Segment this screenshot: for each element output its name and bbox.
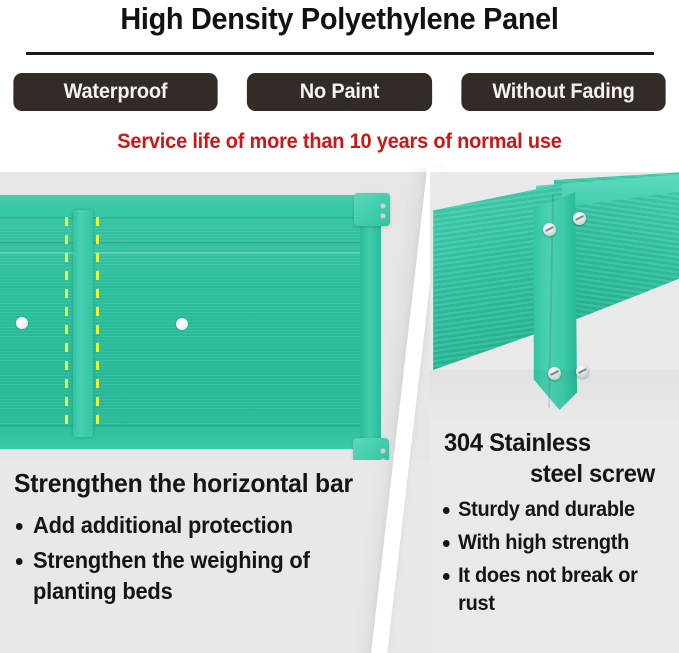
infographic-page: High Density Polyethylene Panel Waterpro… — [0, 0, 679, 653]
cap-screw-icon — [380, 213, 386, 219]
photo-ground-shadow — [430, 370, 679, 424]
right-bullet-list: Sturdy and durable With high strength It… — [442, 496, 676, 623]
left-heading: Strengthen the horizontal bar — [14, 468, 353, 499]
right-text-block: 304 Stainless steel screw Sturdy and dur… — [430, 424, 679, 653]
bed-side-post — [360, 200, 381, 440]
badge-no-paint: No Paint — [247, 73, 432, 111]
stainless-screw-icon — [543, 223, 556, 236]
cap-screw-icon — [380, 203, 386, 209]
highlight-dashed-line-right — [96, 217, 99, 432]
page-title: High Density Polyethylene Panel — [24, 1, 655, 37]
highlight-dashed-line-left — [65, 217, 68, 432]
list-item: Sturdy and durable — [442, 496, 664, 524]
header-divider-rule — [26, 52, 654, 55]
list-item: With high strength — [442, 529, 664, 557]
list-item: It does not break or rust — [442, 562, 664, 618]
right-heading-line2: steel screw — [444, 459, 655, 490]
corner-cap-top — [354, 193, 390, 226]
feature-badge-group: Waterproof No Paint Without Fading — [0, 69, 679, 114]
right-feature-panel: 304 Stainless steel screw Sturdy and dur… — [430, 172, 679, 653]
bed-seam-highlight — [0, 252, 360, 254]
bed-top-wall — [0, 195, 360, 219]
content-area: Strengthen the horizontal bar Add additi… — [0, 172, 679, 653]
list-item: Add additional protection — [14, 510, 399, 541]
drainage-hole-right — [176, 318, 188, 330]
right-heading-line1: 304 Stainless — [444, 429, 591, 457]
badge-waterproof: Waterproof — [13, 73, 217, 111]
horizontal-bar-photo — [0, 172, 430, 460]
right-heading: 304 Stainless steel screw — [444, 428, 655, 490]
drainage-hole-left — [16, 317, 28, 329]
stainless-screw-icon — [573, 212, 586, 225]
badge-without-fading: Without Fading — [461, 73, 665, 111]
horizontal-reinforcing-bar — [73, 210, 93, 437]
stainless-screw-photo — [430, 172, 679, 424]
bed-bottom-wall — [0, 425, 360, 449]
list-item: Strengthen the weighing of planting beds — [14, 545, 399, 607]
bed-seam-line — [0, 242, 360, 244]
header-section: High Density Polyethylene Panel Waterpro… — [0, 0, 679, 172]
service-life-text: Service life of more than 10 years of no… — [17, 130, 662, 154]
